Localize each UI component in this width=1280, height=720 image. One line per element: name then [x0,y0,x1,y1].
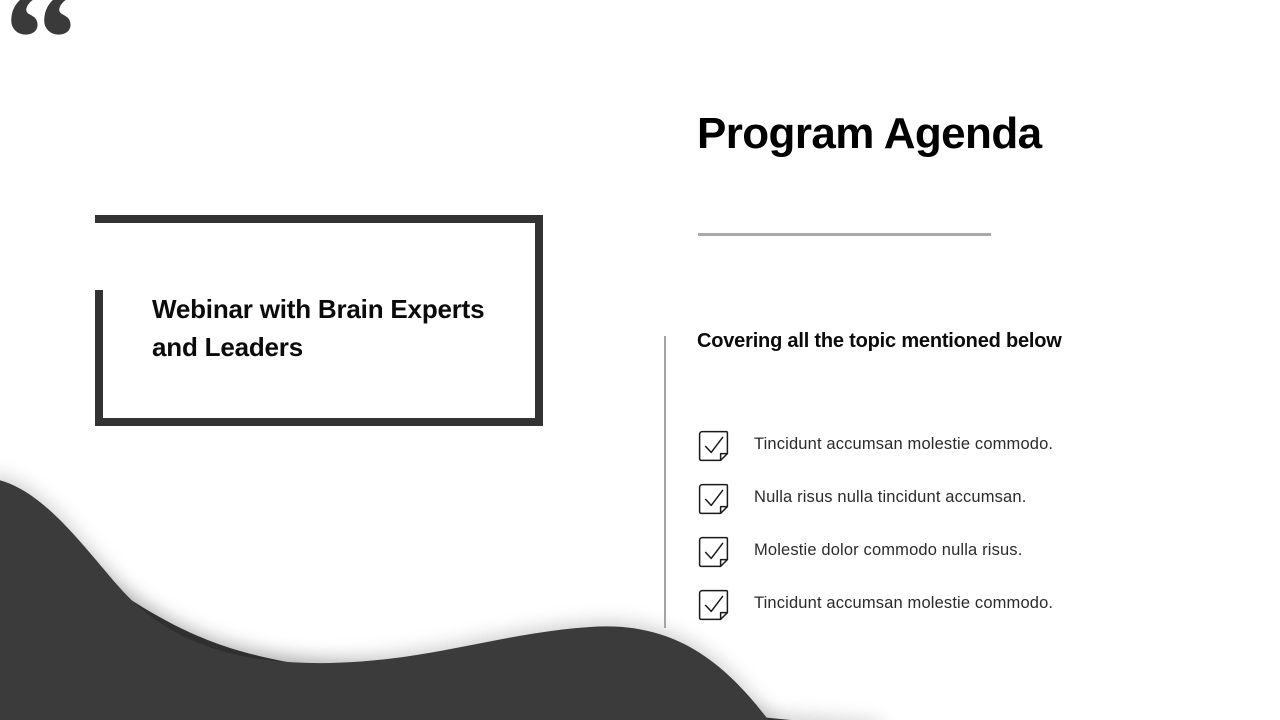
quote-box-border-left [95,290,103,426]
slide-canvas: “ Webinar with Brain Experts and Leaders… [0,0,1280,720]
webinar-heading: Webinar with Brain Experts and Leaders [152,290,532,367]
checkbox-note-icon[interactable] [697,430,731,464]
list-item[interactable]: Molestie dolor commodo nulla risus. [697,534,1257,587]
page-title: Program Agenda [697,110,1041,158]
agenda-subtitle: Covering all the topic mentioned below [697,330,1062,353]
list-item[interactable]: Tincidunt accumsan molestie commodo. [697,428,1257,481]
list-item-label: Nulla risus nulla tincidunt accumsan. [754,487,1257,508]
checkbox-note-icon[interactable] [697,536,731,570]
agenda-vertical-rail [664,336,666,628]
agenda-list: Tincidunt accumsan molestie commodo. Nul… [697,428,1257,640]
quote-box-border-top [95,215,543,223]
quotation-mark-icon: “ [4,0,75,114]
quote-box-border-bottom [95,418,543,426]
list-item-label: Molestie dolor commodo nulla risus. [754,540,1257,561]
wave-front-shape [0,478,770,720]
quote-box-border-right [535,215,543,426]
list-item[interactable]: Tincidunt accumsan molestie commodo. [697,587,1257,640]
checkbox-note-icon[interactable] [697,483,731,517]
list-item-label: Tincidunt accumsan molestie commodo. [754,593,1257,614]
list-item-label: Tincidunt accumsan molestie commodo. [754,434,1257,455]
list-item[interactable]: Nulla risus nulla tincidunt accumsan. [697,481,1257,534]
title-divider [698,233,991,236]
checkbox-note-icon[interactable] [697,589,731,623]
